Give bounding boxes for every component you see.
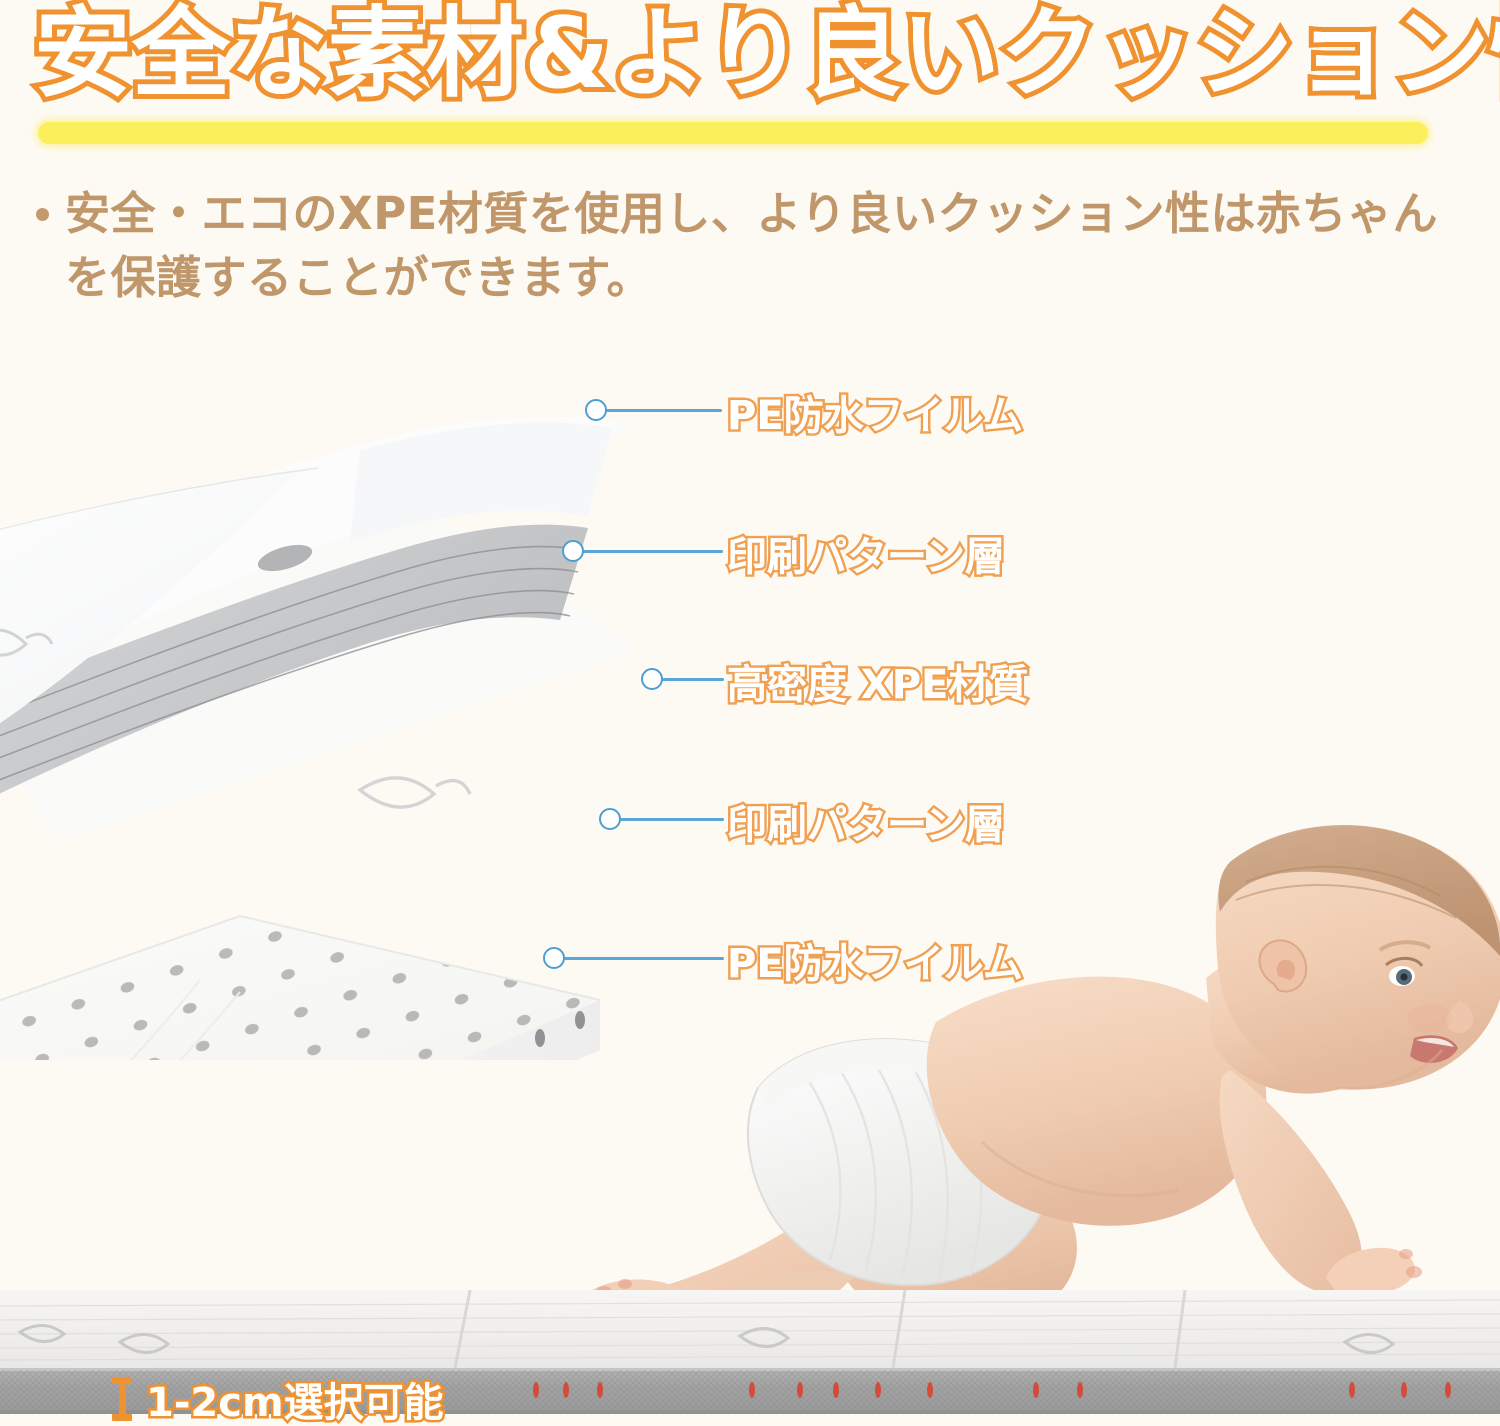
callout-leader-line — [573, 550, 723, 553]
callout-node-icon — [599, 808, 621, 830]
callout-leader-line — [554, 957, 724, 960]
thickness-badge: 1-2cm選択可能 — [112, 1370, 444, 1426]
callout-label: PE防水フイルム — [727, 383, 1023, 441]
product-feature-panel: 安全な素材&より良いクッション性 安全な素材&より良いクッション性 安全・エコの… — [0, 0, 1500, 1426]
title-underline-bar — [38, 122, 1428, 144]
callout-label: 印刷パターン層 — [727, 792, 1005, 850]
callout-node-icon — [562, 540, 584, 562]
bullet-dot-icon — [36, 208, 49, 221]
callout-leader-line — [596, 409, 722, 412]
page-title: 安全な素材&より良いクッション性 — [34, 2, 1500, 108]
callout-label: PE防水フイルム — [727, 931, 1023, 989]
callout-node-icon — [585, 399, 607, 421]
callout-label: 印刷パターン層 — [727, 524, 1005, 582]
callout-node-icon — [641, 668, 663, 690]
callout-leader-line — [610, 818, 724, 821]
callout-label: 高密度 XPE材質 — [727, 652, 1028, 710]
feature-bullet: 安全・エコのXPE材質を使用し、より良いクッション性は赤ちゃんを保護することがで… — [30, 182, 1470, 310]
callout-node-icon — [543, 947, 565, 969]
feature-bullet-text: 安全・エコのXPE材質を使用し、より良いクッション性は赤ちゃんを保護することがで… — [65, 182, 1470, 310]
thickness-measure-icon — [112, 1377, 132, 1421]
baby-photo — [530, 770, 1500, 1370]
thickness-badge-text: 1-2cm選択可能 — [146, 1370, 444, 1426]
